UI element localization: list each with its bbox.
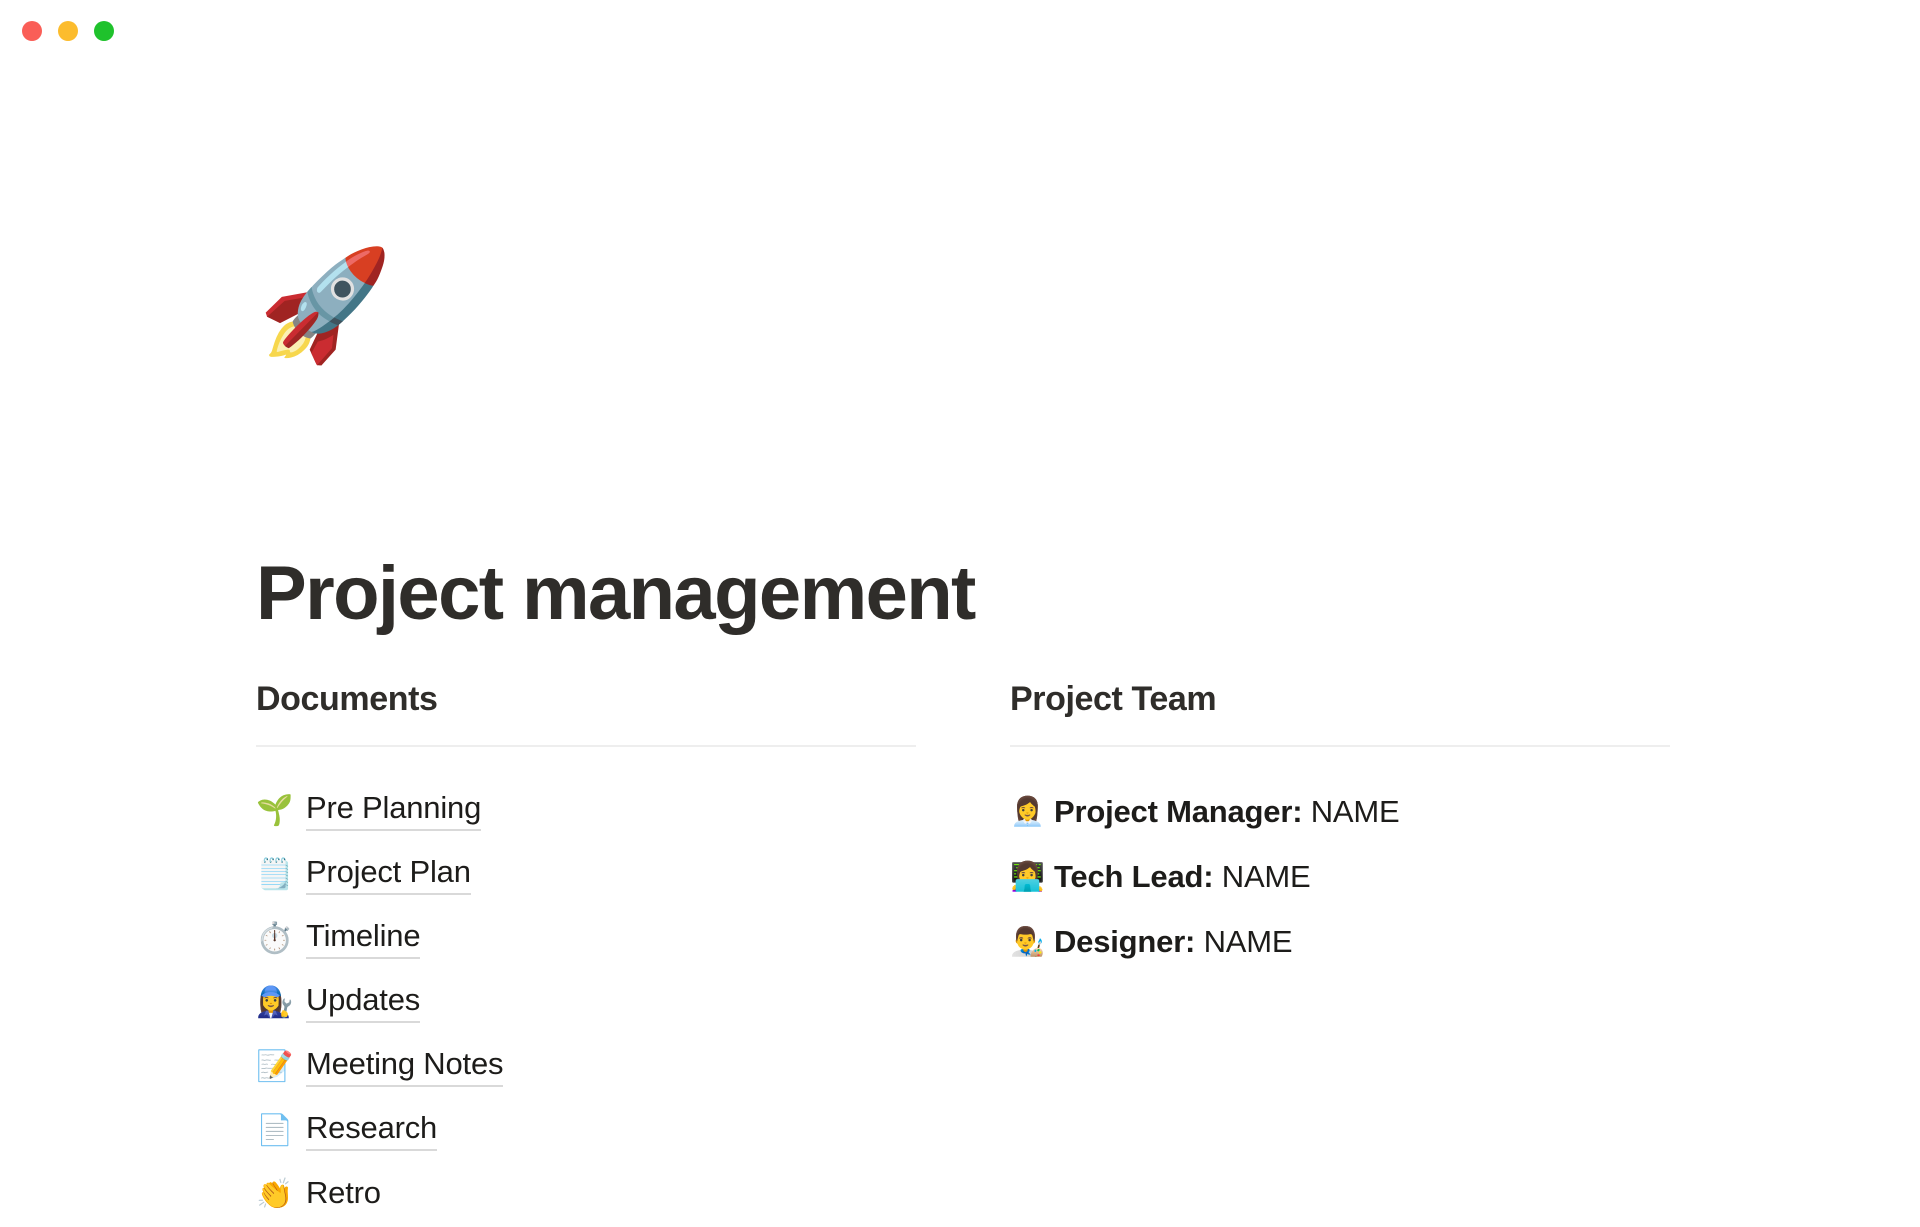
woman-technologist-icon: 👩‍💻 [1010, 863, 1044, 891]
document-page: 🚀 Project management Documents 🌱Pre Plan… [0, 0, 1920, 1200]
document-link[interactable]: Pre Planning [306, 791, 481, 831]
project-team-divider [1010, 745, 1670, 747]
document-list-item[interactable]: 🗒️Project Plan [256, 843, 916, 907]
document-link[interactable]: Updates [306, 983, 420, 1023]
team-member-name: NAME [1302, 794, 1399, 829]
stopwatch-icon: ⏱️ [256, 924, 290, 954]
document-link[interactable]: Research [306, 1111, 437, 1151]
documents-heading: Documents [256, 680, 916, 719]
team-member-role: Tech Lead: [1054, 859, 1213, 894]
document-list-item[interactable]: 👏Retro [256, 1163, 916, 1227]
team-member-name: NAME [1213, 859, 1310, 894]
document-link[interactable]: Project Plan [306, 855, 471, 895]
document-list-item[interactable]: 📝Meeting Notes [256, 1035, 916, 1099]
document-list-item[interactable]: 👩‍🔧Updates [256, 971, 916, 1035]
seedling-icon: 🌱 [256, 796, 290, 826]
team-member-role: Project Manager: [1054, 794, 1302, 829]
rocket-emoji[interactable]: 🚀 [258, 252, 392, 360]
team-member-row: 👩‍💼Project Manager: NAME [1010, 779, 1670, 844]
memo-icon: 📝 [256, 1052, 290, 1082]
team-member-name: NAME [1195, 924, 1292, 959]
document-link[interactable]: Timeline [306, 919, 420, 959]
man-artist-icon: 👨‍🎨 [1010, 928, 1044, 956]
project-team-column: Project Team 👩‍💼Project Manager: NAME👩‍💻… [1010, 680, 1670, 974]
team-member-row: 👩‍💻Tech Lead: NAME [1010, 844, 1670, 909]
documents-list: 🌱Pre Planning🗒️Project Plan⏱️Timeline👩‍🔧… [256, 779, 916, 1227]
page-facing-up-icon: 📄 [256, 1116, 290, 1146]
team-member-text: Tech Lead: NAME [1054, 859, 1311, 895]
team-member-row: 👨‍🎨Designer: NAME [1010, 909, 1670, 974]
woman-office-worker-icon: 👩‍💼 [1010, 798, 1044, 826]
project-team-heading: Project Team [1010, 680, 1670, 719]
team-member-text: Project Manager: NAME [1054, 794, 1400, 830]
page-title[interactable]: Project management [256, 556, 975, 632]
document-list-item[interactable]: 📄Research [256, 1099, 916, 1163]
project-team-list: 👩‍💼Project Manager: NAME👩‍💻Tech Lead: NA… [1010, 779, 1670, 974]
documents-divider [256, 745, 916, 747]
document-link[interactable]: Retro [306, 1176, 381, 1214]
document-link[interactable]: Meeting Notes [306, 1047, 503, 1087]
documents-column: Documents 🌱Pre Planning🗒️Project Plan⏱️T… [256, 680, 916, 1227]
clapping-hands-icon: 👏 [256, 1180, 290, 1210]
document-list-item[interactable]: ⏱️Timeline [256, 907, 916, 971]
team-member-text: Designer: NAME [1054, 924, 1292, 960]
document-list-item[interactable]: 🌱Pre Planning [256, 779, 916, 843]
team-member-role: Designer: [1054, 924, 1195, 959]
woman-mechanic-icon: 👩‍🔧 [256, 988, 290, 1018]
spiral-notepad-icon: 🗒️ [256, 860, 290, 890]
